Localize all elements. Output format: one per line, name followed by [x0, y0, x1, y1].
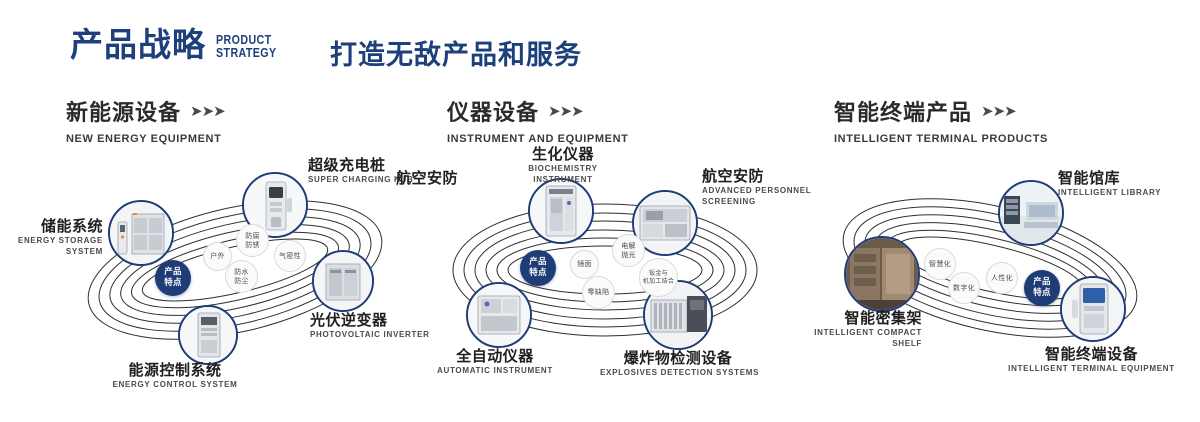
feature-bubble-airtightness[interactable]: 气密性 [274, 240, 306, 272]
diagram-intelligent-terminal-products: 智能馆库 INTELLIGENT LIBRARY 智能密集架 INTELLIGE… [820, 150, 1200, 400]
feature-bubble-line1: 电解 [621, 242, 636, 251]
compact-shelf-icon [846, 238, 918, 310]
feature-bubble-intelligent[interactable]: 智慧化 [924, 248, 956, 280]
center-bubble-product-features[interactable]: 产品 特点 [1024, 270, 1060, 306]
feature-bubble-zero-defect[interactable]: 零缺陷 [582, 276, 615, 309]
section-title-cn: 新能源设备 [66, 95, 181, 127]
feature-bubble-waterproof-dustproof[interactable]: 防水 防尘 [225, 260, 258, 293]
feature-bubble-text: 镜面 [577, 260, 592, 269]
label-en-1: INTELLIGENT COMPACT [772, 329, 922, 338]
node-intelligent-terminal-equipment[interactable] [1060, 276, 1126, 342]
label-energy-control-system: 能源控制系统 ENERGY CONTROL SYSTEM [80, 362, 270, 390]
section-title-cn: 智能终端产品 [834, 95, 972, 127]
label-en-1: PHOTOVOLTAIC INVERTER [310, 331, 430, 340]
automatic-instrument-icon [468, 284, 530, 346]
node-biochemistry-instrument[interactable] [528, 178, 594, 244]
feature-bubble-line1: 钣金与 [649, 270, 668, 278]
feature-bubble-humanized[interactable]: 人性化 [986, 262, 1018, 294]
center-bubble-line2: 特点 [529, 268, 547, 279]
feature-bubble-line2: 机加工结合 [643, 278, 675, 286]
feature-bubble-line1: 防腐 [245, 232, 260, 241]
label-photovoltaic-inverter: 光伏逆变器 PHOTOVOLTAIC INVERTER [310, 312, 430, 340]
feature-bubble-electropolishing[interactable]: 电解 抛光 [612, 234, 645, 267]
node-energy-storage-system[interactable] [108, 200, 174, 266]
feature-bubble-line2: 防尘 [234, 277, 249, 286]
product-strategy-infographic: 产品战略 PRODUCT STRATEGY 打造无敌产品和服务 新能源设备 ➤➤… [0, 0, 1200, 422]
label-advanced-personnel-screening: 航空安防 ADVANCED PERSONNEL SCREENING [702, 168, 811, 207]
label-en-1: INTELLIGENT LIBRARY [1058, 189, 1161, 198]
page-title: 产品战略 PRODUCT STRATEGY [70, 28, 290, 61]
chevron-right-icon: ➤➤➤ [981, 104, 1016, 119]
section-heading-instrument-and-equipment: 仪器设备 ➤➤➤ INSTRUMENT AND EQUIPMENT [447, 95, 628, 145]
label-en-1: ENERGY STORAGE [8, 237, 103, 246]
chevron-right-icon: ➤➤➤ [190, 104, 225, 119]
control-cabinet-icon [180, 307, 236, 363]
page-title-en-line2: STRATEGY [216, 46, 277, 59]
node-intelligent-compact-shelf[interactable] [844, 236, 920, 312]
feature-bubble-text: 人性化 [991, 274, 1013, 283]
label-en-1: ENERGY CONTROL SYSTEM [80, 381, 270, 390]
feature-bubble-text: 气密性 [279, 252, 301, 261]
smart-library-icon [1000, 182, 1062, 244]
section-title-cn: 仪器设备 [447, 95, 539, 127]
diagram-instrument-and-equipment: 生化仪器 BIOCHEMISTRY INSTRUMENT 航空安防 航空安防 A… [430, 150, 820, 400]
label-cn: 储能系统 [8, 218, 103, 235]
center-bubble-product-features[interactable]: 产品 特点 [155, 260, 191, 296]
label-intelligent-library: 智能馆库 INTELLIGENT LIBRARY [1058, 170, 1161, 198]
section-heading-intelligent-terminal-products: 智能终端产品 ➤➤➤ INTELLIGENT TERMINAL PRODUCTS [834, 95, 1048, 145]
label-en-2: INSTRUMENT [508, 176, 618, 185]
page-title-cn: 产品战略 [70, 28, 206, 61]
label-intelligent-terminal-equipment: 智能终端设备 INTELLIGENT TERMINAL EQUIPMENT [1004, 346, 1179, 374]
center-bubble-line1: 产品 [1033, 277, 1051, 288]
label-en-1: EXPLOSIVES DETECTION SYSTEMS [600, 369, 756, 378]
label-cn: 生化仪器 [508, 146, 618, 163]
label-en-2: SHELF [772, 340, 922, 349]
center-bubble-line1: 产品 [529, 257, 547, 268]
center-bubble-line1: 产品 [164, 267, 182, 278]
label-en-1: AUTOMATIC INSTRUMENT [424, 367, 566, 376]
label-cn: 智能终端设备 [1004, 346, 1179, 363]
page-subtitle: 打造无敌产品和服务 [330, 33, 582, 72]
node-energy-control-system[interactable] [178, 305, 238, 365]
label-cn: 航空安防 [702, 168, 811, 185]
chevron-right-icon: ➤➤➤ [548, 104, 583, 119]
feature-bubble-line2: 防锈 [245, 241, 260, 250]
node-automatic-instrument[interactable] [466, 282, 532, 348]
feature-bubble-text: 零缺陷 [588, 288, 610, 297]
feature-bubble-mirror-finish[interactable]: 镜面 [570, 250, 599, 279]
label-en-2: SCREENING [702, 198, 811, 207]
center-bubble-line2: 特点 [164, 278, 182, 289]
label-cn: 能源控制系统 [80, 362, 270, 379]
section-title-en: NEW ENERGY EQUIPMENT [66, 133, 225, 145]
label-cn: 智能密集架 [772, 310, 922, 327]
label-cn: 爆炸物检测设备 [600, 350, 756, 367]
label-aviation-security: 航空安防 [388, 170, 458, 187]
feature-bubble-text: 户外 [210, 252, 225, 261]
feature-bubble-line2: 抛光 [621, 251, 636, 260]
label-en-1: BIOCHEMISTRY [508, 165, 618, 174]
label-automatic-instrument: 全自动仪器 AUTOMATIC INSTRUMENT [424, 348, 566, 376]
feature-bubble-text: 数字化 [953, 284, 975, 293]
label-energy-storage-system: 储能系统 ENERGY STORAGE SYSTEM [8, 218, 103, 257]
biochemistry-analyzer-icon [530, 180, 592, 242]
label-en-2: SYSTEM [8, 248, 103, 257]
inverter-cabinet-icon [314, 252, 372, 310]
page-title-en: PRODUCT STRATEGY [216, 33, 277, 59]
node-intelligent-library[interactable] [998, 180, 1064, 246]
diagram-new-energy-equipment: 储能系统 ENERGY STORAGE SYSTEM 超级充电桩 SUPER C… [50, 150, 430, 400]
battery-cabinet-icon [110, 202, 172, 264]
label-en-1: INTELLIGENT TERMINAL EQUIPMENT [1004, 365, 1179, 374]
section-heading-new-energy-equipment: 新能源设备 ➤➤➤ NEW ENERGY EQUIPMENT [66, 95, 225, 145]
label-explosives-detection-systems: 爆炸物检测设备 EXPLOSIVES DETECTION SYSTEMS [600, 350, 756, 378]
center-bubble-product-features[interactable]: 产品 特点 [520, 250, 556, 286]
feature-bubble-line1: 防水 [234, 268, 249, 277]
label-cn: 航空安防 [388, 170, 458, 187]
node-photovoltaic-inverter[interactable] [312, 250, 374, 312]
label-cn: 智能馆库 [1058, 170, 1161, 187]
label-cn: 光伏逆变器 [310, 312, 430, 329]
feature-bubble-sheetmetal-machining[interactable]: 钣金与 机加工结合 [639, 258, 678, 297]
section-title-en: INSTRUMENT AND EQUIPMENT [447, 133, 628, 145]
section-title-en: INTELLIGENT TERMINAL PRODUCTS [834, 133, 1048, 145]
label-en-1: ADVANCED PERSONNEL [702, 187, 811, 196]
label-cn: 全自动仪器 [424, 348, 566, 365]
feature-bubble-text: 智慧化 [929, 260, 951, 269]
feature-bubble-anticorrosion[interactable]: 防腐 防锈 [236, 224, 269, 257]
label-intelligent-compact-shelf: 智能密集架 INTELLIGENT COMPACT SHELF [772, 310, 922, 349]
label-biochemistry-instrument: 生化仪器 BIOCHEMISTRY INSTRUMENT [508, 146, 618, 185]
feature-bubble-digital[interactable]: 数字化 [948, 272, 980, 304]
center-bubble-line2: 特点 [1033, 288, 1051, 299]
self-service-kiosk-icon [1062, 278, 1124, 340]
